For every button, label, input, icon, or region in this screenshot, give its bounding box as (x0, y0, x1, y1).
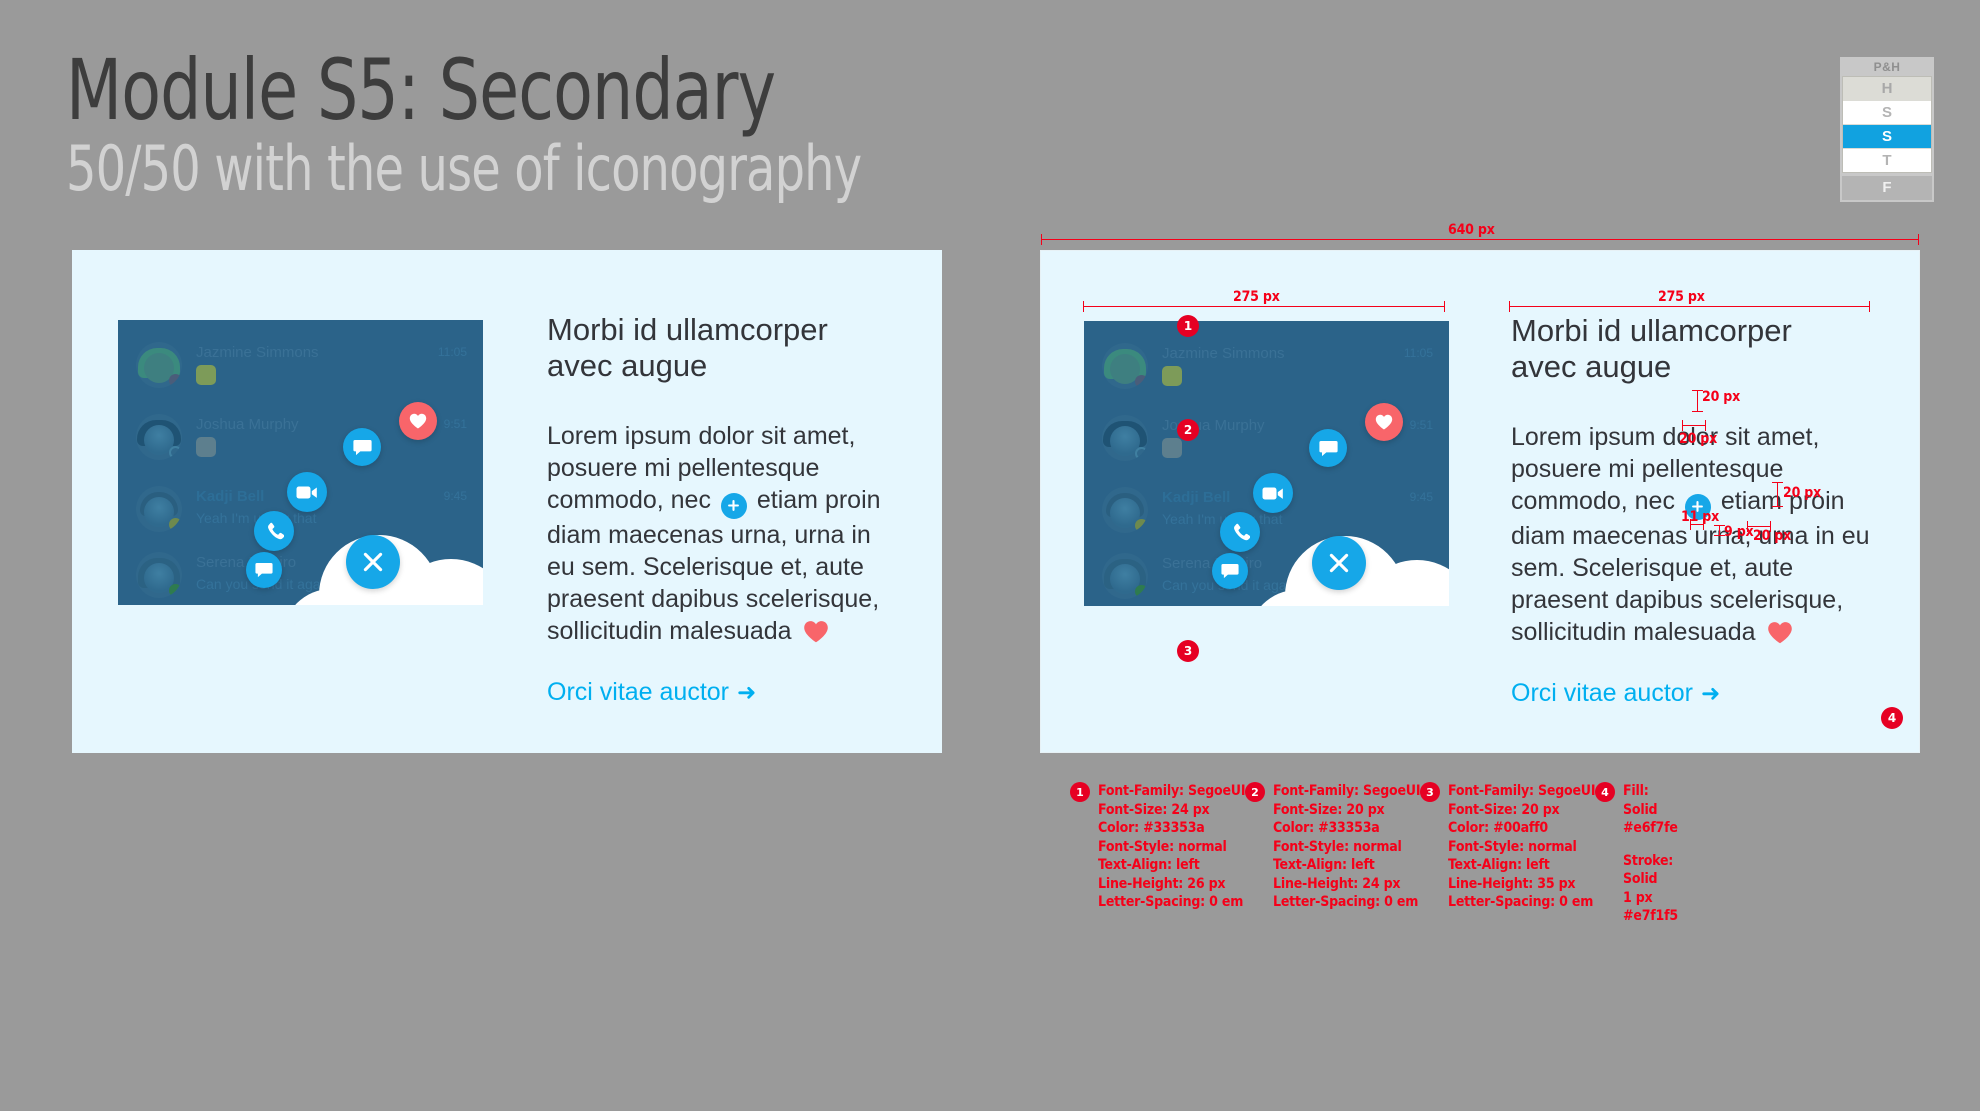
module-text-column: Morbi id ullamcorper avec augue Lorem ip… (547, 312, 897, 710)
chat-mockup-annotated: Jazmine Simmons 11:05 Joshua Murphy 9:51… (1084, 321, 1449, 606)
spec-line: Text-Align: left (1448, 856, 1595, 875)
spec-badge-2: 2 (1245, 782, 1265, 802)
close-icon[interactable] (1312, 536, 1366, 590)
spec-line: Color: #33353a (1273, 819, 1420, 838)
ph-legend: P&H H S S T F (1840, 57, 1934, 202)
link-label: Orci vitae auctor (547, 678, 729, 706)
spec-block-4: 4 Fill: Solid #e6f7fe Stroke: Solid 1 px… (1595, 782, 1678, 926)
ph-legend-row-s1[interactable]: S (1843, 101, 1931, 125)
spec-line-gap (1623, 838, 1678, 852)
spec-badge-4: 4 (1595, 782, 1615, 802)
measure-plus-height-line (1697, 390, 1698, 412)
grin-emoji (1162, 366, 1182, 386)
spec-line: #e6f7fe (1623, 819, 1678, 838)
page-title: Module S5: Secondary (66, 44, 775, 136)
measure-col-left-line (1083, 306, 1445, 307)
spec-line: Solid (1623, 801, 1678, 820)
spec-line: Font-Family: SegoeUI (1273, 782, 1420, 801)
chat-name: Kadji Bell (196, 488, 264, 505)
chat-bubble-icon[interactable] (1309, 429, 1347, 467)
spec-line: Font-Style: normal (1448, 838, 1595, 857)
module-spec-card: Jazmine Simmons 11:05 Joshua Murphy 9:51… (1040, 250, 1920, 753)
spec-line: Font-Style: normal (1273, 838, 1420, 857)
video-camera-icon[interactable] (1253, 473, 1293, 513)
spec-line: Font-Style: normal (1098, 838, 1245, 857)
chat-name: Joshua Murphy (196, 416, 299, 433)
callout-1[interactable]: 1 (1177, 315, 1199, 337)
message-icon[interactable] (246, 552, 282, 588)
spec-line: Letter-Spacing: 0 em (1098, 893, 1245, 912)
measure-col-right-line (1509, 306, 1870, 307)
ph-legend-row-s2[interactable]: S (1843, 125, 1931, 149)
presence-badge (169, 584, 182, 597)
spec-line: 1 px (1623, 889, 1678, 908)
presence-badge (169, 446, 182, 459)
spec-lines-4: Fill: Solid #e6f7fe Stroke: Solid 1 px #… (1623, 782, 1678, 926)
module-preview-card: Jazmine Simmons 11:05 Joshua Murphy 9:51… (72, 250, 942, 753)
spec-line: Text-Align: left (1098, 856, 1245, 875)
measure-col-right-label: 275 px (1658, 289, 1705, 305)
chat-row[interactable]: Jazmine Simmons 11:05 (136, 342, 469, 394)
avatar (136, 342, 182, 388)
presence-badge (169, 374, 182, 387)
spec-badge-1: 1 (1070, 782, 1090, 802)
spec-block-2: 2 Font-Family: SegoeUI Font-Size: 20 px … (1245, 782, 1420, 912)
spec-line: Line-Height: 24 px (1273, 875, 1420, 894)
chat-name: Jazmine Simmons (196, 344, 319, 361)
ph-legend-title: P&H (1842, 59, 1932, 76)
avatar (1102, 343, 1148, 389)
spec-lines-3: Font-Family: SegoeUI Font-Size: 20 px Co… (1448, 782, 1595, 912)
spec-line: Font-Family: SegoeUI (1098, 782, 1245, 801)
spec-line: Font-Size: 20 px (1448, 801, 1595, 820)
ph-legend-row-h[interactable]: H (1843, 77, 1931, 101)
callout-4[interactable]: 4 (1881, 707, 1903, 729)
spec-line: Letter-Spacing: 0 em (1448, 893, 1595, 912)
module-heading-line1: Morbi id ullamcorper (547, 312, 828, 347)
avatar (1102, 415, 1148, 461)
slide-root: Module S5: Secondary 50/50 with the use … (0, 0, 1980, 1111)
ph-legend-box: H S S T (1842, 76, 1932, 173)
avatar (136, 414, 182, 460)
ph-legend-row-t[interactable]: T (1843, 149, 1931, 172)
spec-line: Line-Height: 26 px (1098, 875, 1245, 894)
presence-badge (1135, 447, 1148, 460)
spec-block-1: 1 Font-Family: SegoeUI Font-Size: 24 px … (1070, 782, 1245, 912)
grin-emoji (196, 365, 216, 385)
spec-line: Fill: (1623, 782, 1678, 801)
spec-line: Solid (1623, 870, 1678, 889)
presence-badge (1135, 585, 1148, 598)
spec-line: Font-Size: 24 px (1098, 801, 1245, 820)
spec-line: Line-Height: 35 px (1448, 875, 1595, 894)
sunglasses-emoji (1162, 438, 1182, 458)
close-icon[interactable] (346, 535, 400, 589)
callout-3[interactable]: 3 (1177, 640, 1199, 662)
chat-mockup: Jazmine Simmons 11:05 Joshua Murphy 9:51… (118, 320, 483, 605)
heart-icon (1767, 620, 1793, 652)
measure-col-left-label: 275 px (1233, 289, 1280, 305)
spec-badge-3: 3 (1420, 782, 1440, 802)
measure-plus-width-label: 20 px (1679, 431, 1717, 447)
arrow-right-icon: ➜ (1701, 680, 1720, 706)
avatar (1102, 487, 1148, 533)
message-icon[interactable] (1212, 553, 1248, 589)
chat-row[interactable]: Jazmine Simmons 11:05 (1102, 343, 1435, 395)
spec-line: Text-Align: left (1273, 856, 1420, 875)
phone-icon[interactable] (254, 511, 294, 551)
presence-badge (1135, 375, 1148, 388)
spec-line: Letter-Spacing: 0 em (1273, 893, 1420, 912)
chat-time: 11:05 (1404, 346, 1433, 360)
measure-arrow-width-label: 11 px (1681, 509, 1719, 525)
spec-line: #e7f1f5 (1623, 907, 1678, 926)
chat-time: 9:51 (1410, 418, 1433, 432)
phone-icon[interactable] (1220, 512, 1260, 552)
chat-time: 9:51 (444, 417, 467, 431)
heart-icon[interactable] (399, 402, 437, 440)
module-heading: Morbi id ullamcorper avec augue (547, 312, 897, 384)
spec-block-3: 3 Font-Family: SegoeUI Font-Size: 20 px … (1420, 782, 1595, 912)
spec-line: Font-Family: SegoeUI (1448, 782, 1595, 801)
spec-line: Font-Size: 20 px (1273, 801, 1420, 820)
orci-vitae-auctor-link[interactable]: Orci vitae auctor➜ (1511, 676, 1871, 711)
plus-icon[interactable] (721, 493, 747, 519)
ph-legend-footer[interactable]: F (1842, 176, 1932, 200)
page-subtitle: 50/50 with the use of iconography (66, 134, 861, 204)
presence-badge (1135, 519, 1148, 532)
measure-plus-width-line (1682, 425, 1706, 426)
arrow-right-icon: ➜ (737, 679, 756, 705)
module-heading-line1: Morbi id ullamcorper (1511, 313, 1792, 348)
module-heading-line2: avec augue (547, 348, 707, 383)
spec-line: Color: #00aff0 (1448, 819, 1595, 838)
measure-total-width-label: 640 px (1448, 222, 1495, 238)
measure-plus-height-label: 20 px (1702, 389, 1740, 405)
avatar (136, 552, 182, 598)
orci-vitae-auctor-link[interactable]: Orci vitae auctor➜ (547, 675, 897, 710)
measure-heart-height-line (1777, 482, 1778, 507)
measure-arrow-height-line (1719, 525, 1720, 536)
chat-name: Kadji Bell (1162, 489, 1230, 506)
spec-lines-1: Font-Family: SegoeUI Font-Size: 24 px Co… (1098, 782, 1245, 912)
module-body: Lorem ipsum dolor sit amet, posuere mi p… (547, 420, 897, 651)
heart-icon[interactable] (1365, 403, 1403, 441)
sunglasses-emoji (196, 437, 216, 457)
avatar (136, 486, 182, 532)
module-heading: Morbi id ullamcorper avec augue (1511, 313, 1871, 385)
spec-line: Stroke: (1623, 852, 1678, 871)
measure-heart-height-label: 20 px (1783, 485, 1821, 501)
spec-lines-2: Font-Family: SegoeUI Font-Size: 20 px Co… (1273, 782, 1420, 912)
measure-heart-gap-label: 20 px (1753, 528, 1791, 544)
module-body: Lorem ipsum dolor sit amet, posuere mi p… (1511, 421, 1871, 652)
callout-2[interactable]: 2 (1177, 419, 1199, 441)
heart-icon (803, 619, 829, 651)
chat-time: 11:05 (438, 345, 467, 359)
module-heading-line2: avec augue (1511, 349, 1671, 384)
measure-arrow-height-label: 9 px (1724, 524, 1753, 540)
spec-line: Color: #33353a (1098, 819, 1245, 838)
chat-name: Jazmine Simmons (1162, 345, 1285, 362)
measure-total-width-line (1041, 239, 1919, 240)
chat-bubble-icon[interactable] (343, 428, 381, 466)
presence-badge (169, 518, 182, 531)
link-label: Orci vitae auctor (1511, 679, 1693, 707)
avatar (1102, 553, 1148, 599)
video-camera-icon[interactable] (287, 472, 327, 512)
